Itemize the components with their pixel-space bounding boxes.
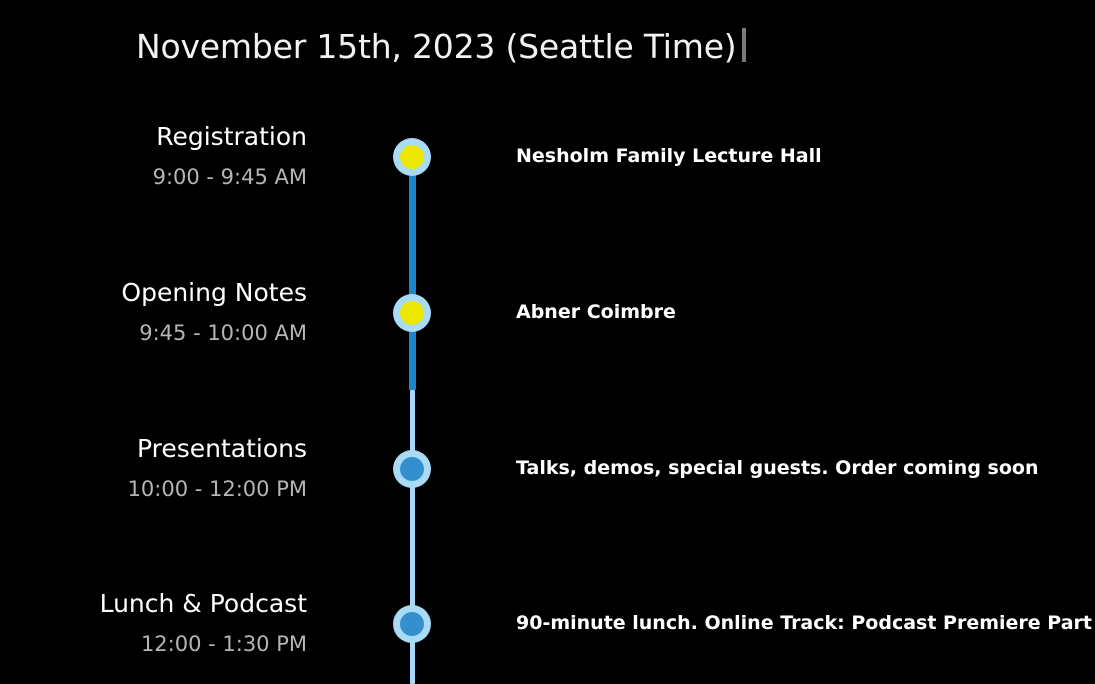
timeline-marker-dot xyxy=(400,301,424,325)
timeline-item-time: 9:45 - 10:00 AM xyxy=(0,320,307,346)
timeline-node-filled-blue-icon[interactable] xyxy=(393,450,431,488)
timeline-marker-dot xyxy=(400,457,424,481)
timeline-item-left: Presentations10:00 - 12:00 PM xyxy=(0,433,307,503)
timeline-item-right: 90-minute lunch. Online Track: Podcast P… xyxy=(516,611,1095,636)
timeline-item-left: Lunch & Podcast12:00 - 1:30 PM xyxy=(0,588,307,658)
timeline-item-right: Talks, demos, special guests. Order comi… xyxy=(516,456,1038,481)
timeline-item-right: Nesholm Family Lecture Hall xyxy=(516,144,822,169)
timeline-item-right: Abner Coimbre xyxy=(516,300,676,325)
timeline-item-description: 90-minute lunch. Online Track: Podcast P… xyxy=(516,611,1095,636)
schedule-timeline: Registration9:00 - 9:45 AMNesholm Family… xyxy=(0,100,1095,684)
text-cursor-caret xyxy=(742,28,746,62)
timeline-item-title: Opening Notes xyxy=(0,277,307,308)
timeline-marker-dot xyxy=(400,145,424,169)
timeline-node-filled-blue-icon[interactable] xyxy=(393,605,431,643)
page-title-row: November 15th, 2023 (Seattle Time) xyxy=(136,24,746,67)
timeline-marker-dot xyxy=(400,612,424,636)
timeline-node-filled-yellow-icon[interactable] xyxy=(393,138,431,176)
page-title: November 15th, 2023 (Seattle Time) xyxy=(136,27,736,67)
timeline-item-left: Opening Notes9:45 - 10:00 AM xyxy=(0,277,307,347)
schedule-page: November 15th, 2023 (Seattle Time) Regis… xyxy=(0,0,1095,684)
timeline-node-filled-yellow-icon[interactable] xyxy=(393,294,431,332)
timeline-connector xyxy=(409,157,416,390)
timeline-item-time: 12:00 - 1:30 PM xyxy=(0,631,307,657)
timeline-item-time: 9:00 - 9:45 AM xyxy=(0,164,307,190)
timeline-item-title: Registration xyxy=(0,121,307,152)
timeline-item-title: Lunch & Podcast xyxy=(0,588,307,619)
timeline-item-time: 10:00 - 12:00 PM xyxy=(0,476,307,502)
timeline-item-title: Presentations xyxy=(0,433,307,464)
timeline-item-description: Abner Coimbre xyxy=(516,300,676,325)
timeline-item-description: Nesholm Family Lecture Hall xyxy=(516,144,822,169)
timeline-item-left: Registration9:00 - 9:45 AM xyxy=(0,121,307,191)
timeline-item-description: Talks, demos, special guests. Order comi… xyxy=(516,456,1038,481)
